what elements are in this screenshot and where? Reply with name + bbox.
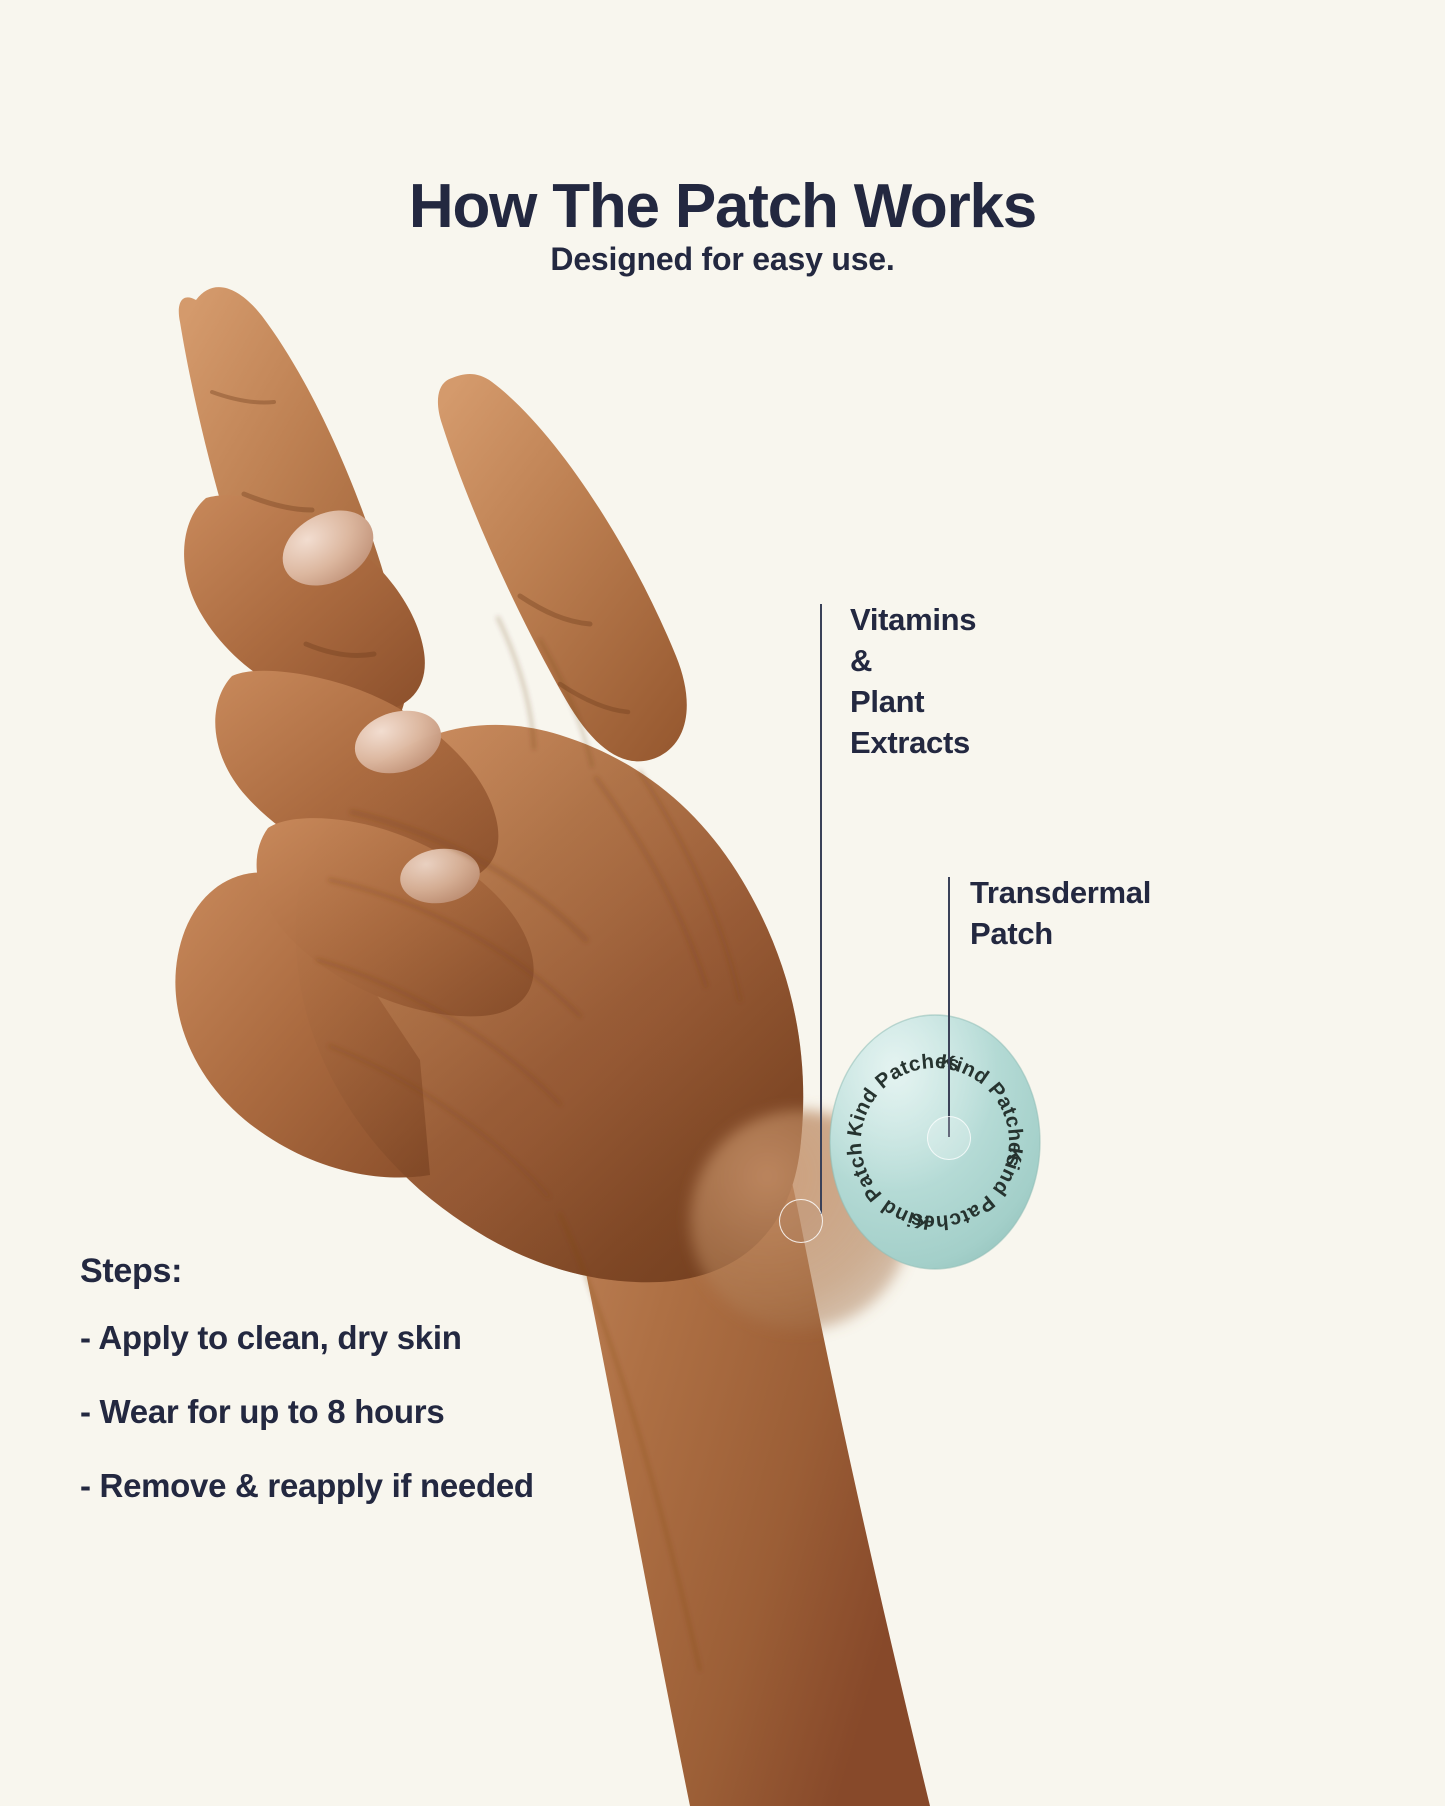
page-subtitle: Designed for easy use.	[0, 240, 1445, 278]
steps-section: Steps: - Apply to clean, dry skin - Wear…	[80, 1252, 534, 1505]
leader-endpoint-patch	[927, 1116, 971, 1160]
leader-line-vitamins	[820, 604, 822, 1214]
step-item: - Remove & reapply if needed	[80, 1467, 534, 1505]
callout-label-vitamins: Vitamins & Plant Extracts	[850, 600, 976, 764]
page-title: How The Patch Works	[0, 174, 1445, 239]
callout-label-transdermal: Transdermal Patch	[970, 873, 1151, 955]
leader-line-patch	[948, 877, 950, 1137]
steps-heading: Steps:	[80, 1252, 534, 1291]
step-item: - Apply to clean, dry skin	[80, 1319, 534, 1357]
infographic-canvas: Kind Patches Kind Patches Kind Patches K…	[0, 0, 1445, 1806]
leader-endpoint-vitamins	[779, 1199, 823, 1243]
step-item: - Wear for up to 8 hours	[80, 1393, 534, 1431]
